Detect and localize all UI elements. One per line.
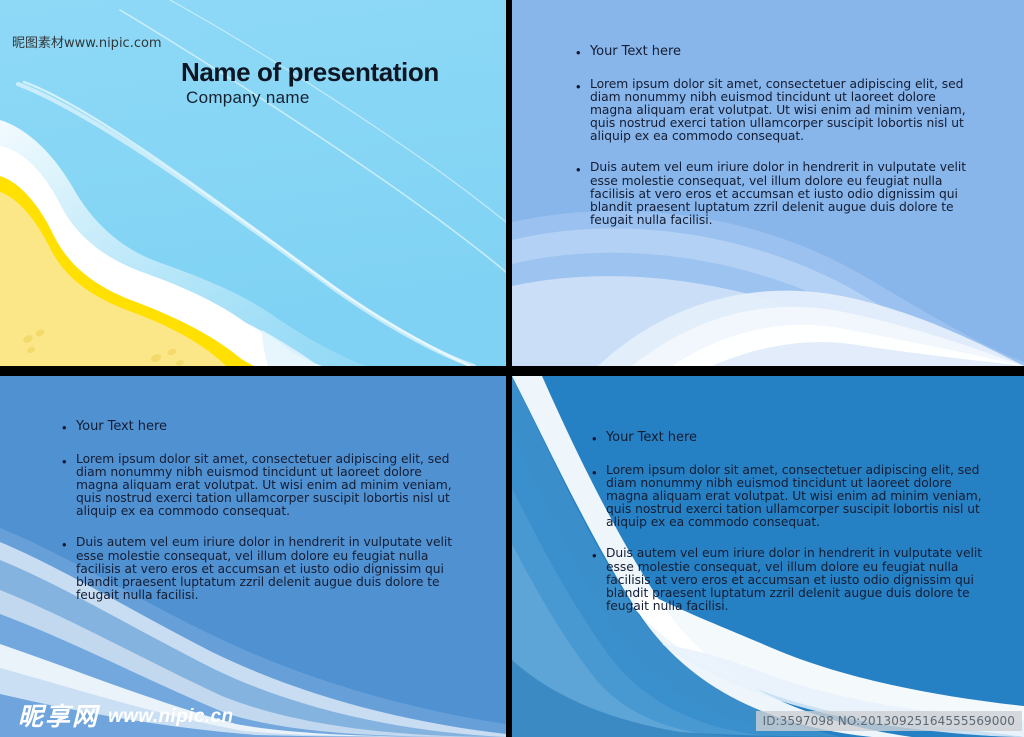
- slide-content-two[interactable]: • Your Text here • Lorem ipsum dolor sit…: [512, 0, 1024, 366]
- bullet-dot-icon: •: [592, 430, 606, 446]
- bullet-list-two: • Your Text here • Lorem ipsum dolor sit…: [576, 44, 970, 241]
- bullet-text[interactable]: Your Text here: [606, 430, 697, 445]
- bullet-dot-icon: •: [576, 78, 590, 94]
- bullet-dot-icon: •: [592, 547, 606, 563]
- beach-artwork: [0, 0, 506, 366]
- id-badge: ID:3597098 NO:20130925164555569000: [756, 711, 1022, 731]
- bullet-list-four: • Your Text here • Lorem ipsum dolor sit…: [592, 430, 989, 627]
- bullet-text[interactable]: Lorem ipsum dolor sit amet, consectetuer…: [590, 78, 970, 143]
- bullet-item: • Duis autem vel eum iriure dolor in hen…: [592, 547, 989, 612]
- slide-content-four[interactable]: • Your Text here • Lorem ipsum dolor sit…: [512, 376, 1024, 737]
- bullet-dot-icon: •: [62, 419, 76, 435]
- bullet-text[interactable]: Duis autem vel eum iriure dolor in hendr…: [606, 547, 989, 612]
- bullet-dot-icon: •: [592, 464, 606, 480]
- bullet-dot-icon: •: [576, 44, 590, 60]
- company-name[interactable]: Company name: [186, 88, 310, 108]
- bullet-dot-icon: •: [62, 453, 76, 469]
- bullet-list-three: • Your Text here • Lorem ipsum dolor sit…: [62, 419, 460, 616]
- nipic-logo-url: www.nipic.cn: [108, 707, 234, 726]
- bullet-text[interactable]: Your Text here: [76, 419, 167, 434]
- bullet-text[interactable]: Duis autem vel eum iriure dolor in hendr…: [590, 161, 970, 226]
- slide-title-beach[interactable]: 昵图素材www.nipic.com Name of presentation C…: [0, 0, 506, 366]
- bullet-dot-icon: •: [576, 161, 590, 177]
- nipic-logo-watermark: 昵享网 www.nipic.cn: [18, 704, 234, 729]
- bullet-text[interactable]: Your Text here: [590, 44, 681, 59]
- bullet-text[interactable]: Lorem ipsum dolor sit amet, consectetuer…: [76, 453, 460, 518]
- bullet-item: • Lorem ipsum dolor sit amet, consectetu…: [592, 464, 989, 529]
- bullet-dot-icon: •: [62, 536, 76, 552]
- bullet-item: • Duis autem vel eum iriure dolor in hen…: [576, 161, 970, 226]
- presentation-title[interactable]: Name of presentation: [181, 57, 439, 88]
- slide-content-three[interactable]: • Your Text here • Lorem ipsum dolor sit…: [0, 376, 506, 737]
- bullet-item: • Lorem ipsum dolor sit amet, consectetu…: [576, 78, 970, 143]
- bullet-text[interactable]: Duis autem vel eum iriure dolor in hendr…: [76, 536, 460, 601]
- bullet-item: • Lorem ipsum dolor sit amet, consectetu…: [62, 453, 460, 518]
- bullet-item: • Your Text here: [62, 419, 460, 435]
- bullet-item: • Duis autem vel eum iriure dolor in hen…: [62, 536, 460, 601]
- template-preview-sheet: 昵图素材www.nipic.com Name of presentation C…: [0, 0, 1024, 737]
- bullet-text[interactable]: Lorem ipsum dolor sit amet, consectetuer…: [606, 464, 989, 529]
- bullet-item: • Your Text here: [592, 430, 989, 446]
- bullet-item: • Your Text here: [576, 44, 970, 60]
- nipic-logo-mark: 昵享网: [18, 704, 99, 729]
- nipic-top-watermark: 昵图素材www.nipic.com: [12, 32, 162, 51]
